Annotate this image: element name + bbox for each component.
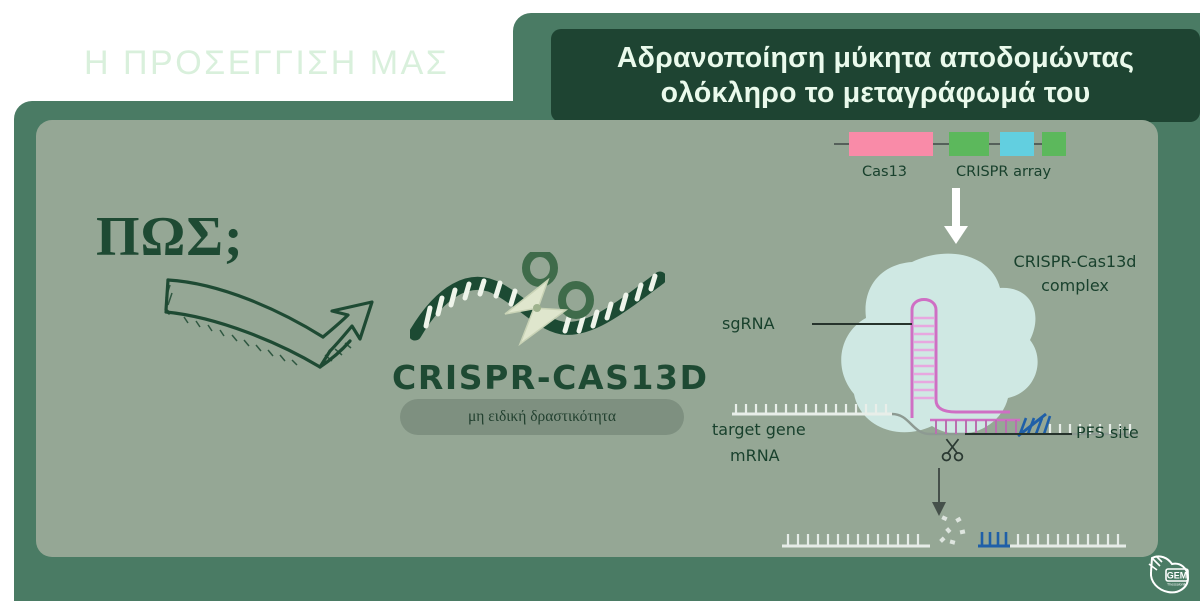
dna-scissors-illustration xyxy=(410,252,665,367)
title-box: Αδρανοποίηση μύκητα αποδομώντας ολόκληρο… xyxy=(551,29,1200,122)
igem-team-logo: GEM Thessaloniki xyxy=(1146,552,1194,596)
mechanism-diagram: Cas13 CRISPR array xyxy=(690,120,1158,557)
complex-label-line-1: CRISPR-Cas13d xyxy=(990,252,1158,271)
eyebrow-text: Η ΠΡΟΣΕΓΓΙΣΗ ΜΑΣ xyxy=(84,44,449,83)
slide-canvas: Η ΠΡΟΣΕΓΓΙΣΗ ΜΑΣ Αδρανοποίηση μύκητα απο… xyxy=(0,0,1200,601)
target-label-line-2: mRNA xyxy=(730,446,780,465)
tech-name: CRISPR-CAS13D xyxy=(392,358,692,397)
title-line-1: Αδρανοποίηση μύκητα αποδομώντας xyxy=(617,41,1134,76)
cleaved-rna-fragments-icon xyxy=(770,512,1130,556)
title-line-2: ολόκληρο το μεταγράφωμά του xyxy=(617,76,1134,111)
complex-label-line-2: complex xyxy=(990,276,1158,295)
logo-text: GEM xyxy=(1167,571,1188,581)
target-label-line-1: target gene xyxy=(712,420,806,439)
title-text: Αδρανοποίηση μύκητα αποδομώντας ολόκληρο… xyxy=(601,41,1150,111)
tech-subtitle: μη ειδική δραστικότητα xyxy=(468,408,616,426)
sgrna-label: sgRNA xyxy=(722,314,775,333)
pfs-site-label: PFS site xyxy=(1076,423,1139,442)
handdrawn-arrow-icon xyxy=(160,255,390,380)
tech-subtitle-pill: μη ειδική δραστικότητα xyxy=(400,399,684,435)
logo-subtext: Thessaloniki xyxy=(1167,583,1187,587)
content-panel: ΠΩΣ; xyxy=(36,120,1158,557)
